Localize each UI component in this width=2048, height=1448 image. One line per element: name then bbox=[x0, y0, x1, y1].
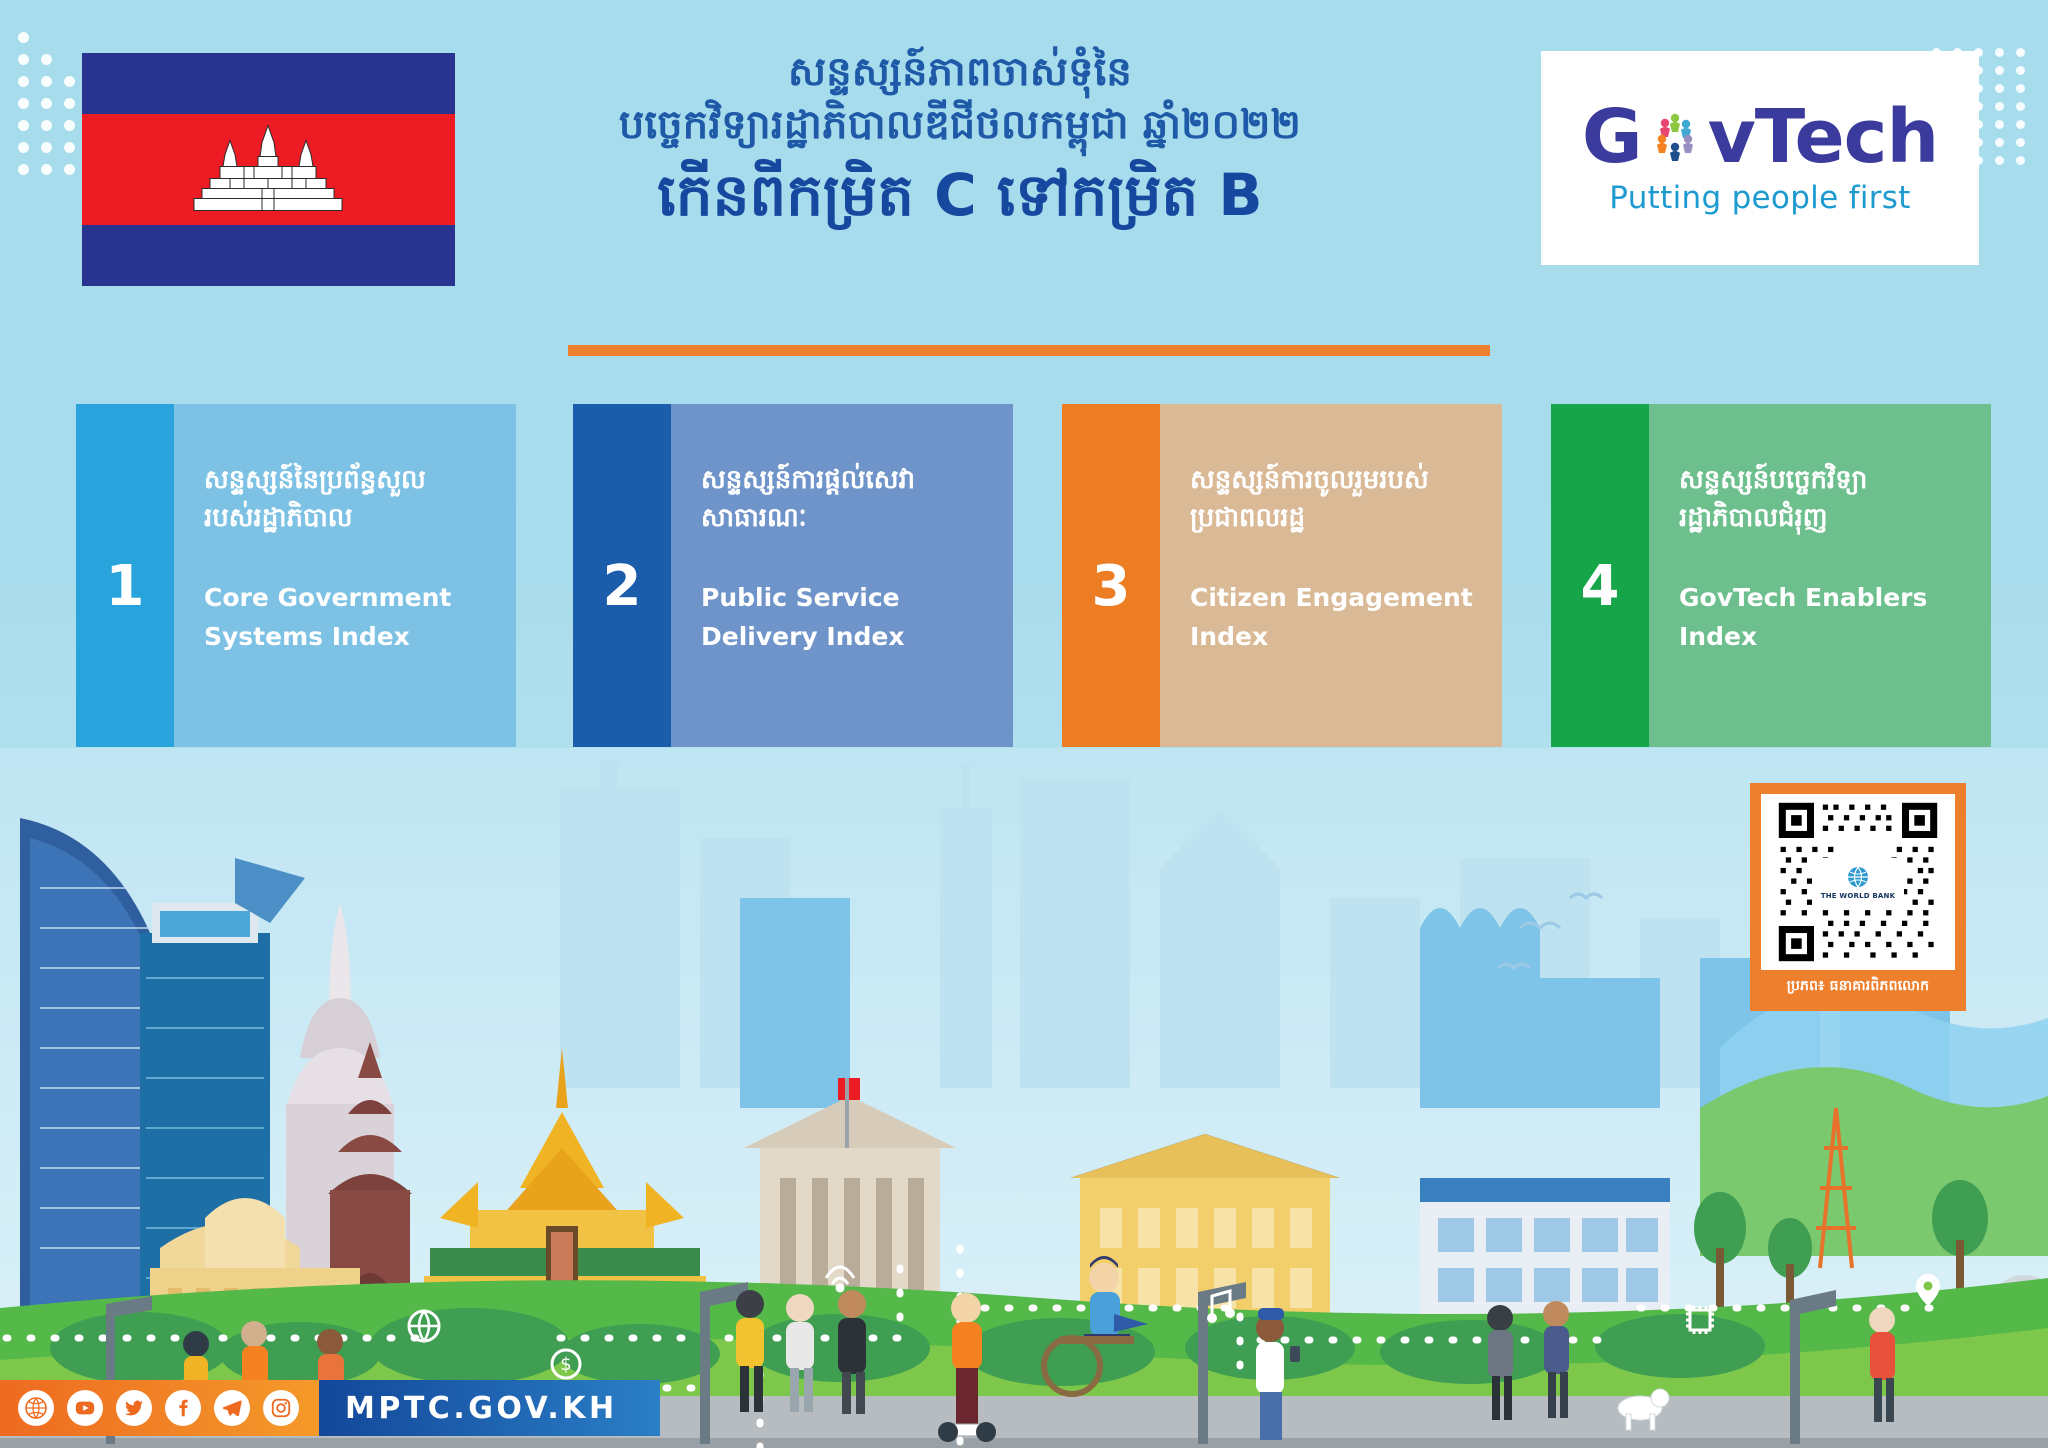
title-divider bbox=[568, 345, 1490, 356]
flag-band-top bbox=[82, 53, 455, 114]
world-bank-label: THE WORLD BANK bbox=[1821, 892, 1895, 900]
card-number-column-3: 3 bbox=[1062, 404, 1160, 747]
www-globe-icon[interactable] bbox=[18, 1390, 54, 1426]
angkor-wat-icon bbox=[184, 122, 354, 217]
qr-panel[interactable]: THE WORLD BANK ប្រភព៖ ធនាគារពិភពលោក bbox=[1750, 783, 1966, 1011]
website-url[interactable]: MPTC.GOV.KH bbox=[319, 1380, 660, 1436]
infographic-poster: សន្ទស្សន៍ភាពចាស់ទុំនៃ បច្ចេកវិទ្យារដ្ឋាភ… bbox=[0, 0, 2048, 1448]
youtube-icon[interactable] bbox=[67, 1390, 103, 1426]
card-title-en-1: Core Government Systems Index bbox=[204, 579, 488, 657]
card-body-2: សន្ទស្សន៍ការផ្តល់សេវា សាធារណៈ Public Ser… bbox=[671, 404, 1013, 747]
index-card-list: 1 សន្ទស្សន៍នៃប្រព័ន្ធសួល របស់រដ្ឋាភិបាល … bbox=[0, 404, 2048, 774]
index-card-3[interactable]: 3 សន្ទស្សន៍ការចូលរួមរបស់ ប្រជាពលរដ្ឋ Cit… bbox=[1062, 404, 1502, 747]
card-number-column-4: 4 bbox=[1551, 404, 1649, 747]
index-card-1[interactable]: 1 សន្ទស្សន៍នៃប្រព័ន្ធសួល របស់រដ្ឋាភិបាល … bbox=[76, 404, 516, 747]
title-line-1: សន្ទស្សន៍ភាពចាស់ទុំនៃ bbox=[430, 46, 1490, 99]
card-body-4: សន្ទស្សន៍បច្ចេកវិទ្យា រដ្ឋាភិបាលជំរុញ Go… bbox=[1649, 404, 1991, 747]
social-icons bbox=[0, 1380, 319, 1436]
city-illustration: $ bbox=[0, 748, 2048, 1448]
card-body-3: សន្ទស្សន៍ការចូលរួមរបស់ ប្រជាពលរដ្ឋ Citiz… bbox=[1160, 404, 1502, 747]
card-number-column-1: 1 bbox=[76, 404, 174, 747]
telegram-icon[interactable] bbox=[214, 1390, 250, 1426]
world-bank-globe-icon bbox=[1841, 865, 1875, 891]
govtech-tagline: Putting people first bbox=[1609, 180, 1910, 216]
title-line-3: កើនពីកម្រិត C ទៅកម្រិត B bbox=[430, 156, 1490, 234]
card-title-en-3: Citizen Engagement Index bbox=[1190, 579, 1474, 657]
card-number-column-2: 2 bbox=[573, 404, 671, 747]
svg-text:$: $ bbox=[560, 1354, 571, 1375]
card-title-en-2: Public Service Delivery Index bbox=[701, 579, 985, 657]
card-number-3: 3 bbox=[1092, 559, 1131, 615]
card-title-km-2: សន្ទស្សន៍ការផ្តល់សេវា សាធារណៈ bbox=[701, 462, 985, 537]
card-title-km-4: សន្ទស្សន៍បច្ចេកវិទ្យា រដ្ឋាភិបាលជំរុញ bbox=[1679, 462, 1963, 537]
twitter-icon[interactable] bbox=[116, 1390, 152, 1426]
facebook-icon[interactable] bbox=[165, 1390, 201, 1426]
govtech-wordmark: G vTech bbox=[1582, 100, 1938, 174]
flag-band-bottom bbox=[82, 225, 455, 286]
index-card-2[interactable]: 2 សន្ទស្សន៍ការផ្តល់សេវា សាធារណៈ Public S… bbox=[573, 404, 1013, 747]
qr-source-caption: ប្រភព៖ ធនាគារពិភពលោក bbox=[1787, 976, 1929, 997]
website-url-label: MPTC.GOV.KH bbox=[345, 1391, 618, 1426]
card-title-km-3: សន្ទស្សន៍ការចូលរួមរបស់ ប្រជាពលរដ្ឋ bbox=[1190, 462, 1474, 537]
hills bbox=[1700, 990, 2048, 1256]
card-title-en-4: GovTech Enablers Index bbox=[1679, 579, 1963, 657]
govtech-vtech: vTech bbox=[1708, 100, 1939, 174]
card-title-km-1: សន្ទស្សន៍នៃប្រព័ន្ធសួល របស់រដ្ឋាភិបាល bbox=[204, 462, 488, 537]
world-bank-logo: THE WORLD BANK bbox=[1812, 858, 1904, 906]
footer-bar: MPTC.GOV.KH bbox=[0, 1380, 660, 1436]
page-title: សន្ទស្សន៍ភាពចាស់ទុំនៃ បច្ចេកវិទ្យារដ្ឋាភ… bbox=[430, 46, 1490, 234]
card-number-2: 2 bbox=[603, 559, 642, 615]
card-number-1: 1 bbox=[106, 559, 145, 615]
govtech-g: G bbox=[1582, 100, 1642, 174]
title-line-2: បច្ចេកវិទ្យារដ្ឋាភិបាលឌីជីថលកម្ពុជា ឆ្នា… bbox=[430, 99, 1490, 152]
card-number-4: 4 bbox=[1581, 559, 1620, 615]
govtech-logo: G vTech Putting people first bbox=[1541, 51, 1979, 265]
flag-band-middle bbox=[82, 114, 455, 226]
card-body-1: សន្ទស្សន៍នៃប្រព័ន្ធសួល របស់រដ្ឋាភិបាល Co… bbox=[174, 404, 516, 747]
people-circle-icon bbox=[1644, 106, 1706, 168]
index-card-4[interactable]: 4 សន្ទស្សន៍បច្ចេកវិទ្យា រដ្ឋាភិបាលជំរុញ … bbox=[1551, 404, 1991, 747]
cambodia-flag bbox=[82, 53, 455, 286]
instagram-icon[interactable] bbox=[263, 1390, 299, 1426]
qr-code-image[interactable]: THE WORLD BANK bbox=[1761, 794, 1955, 970]
